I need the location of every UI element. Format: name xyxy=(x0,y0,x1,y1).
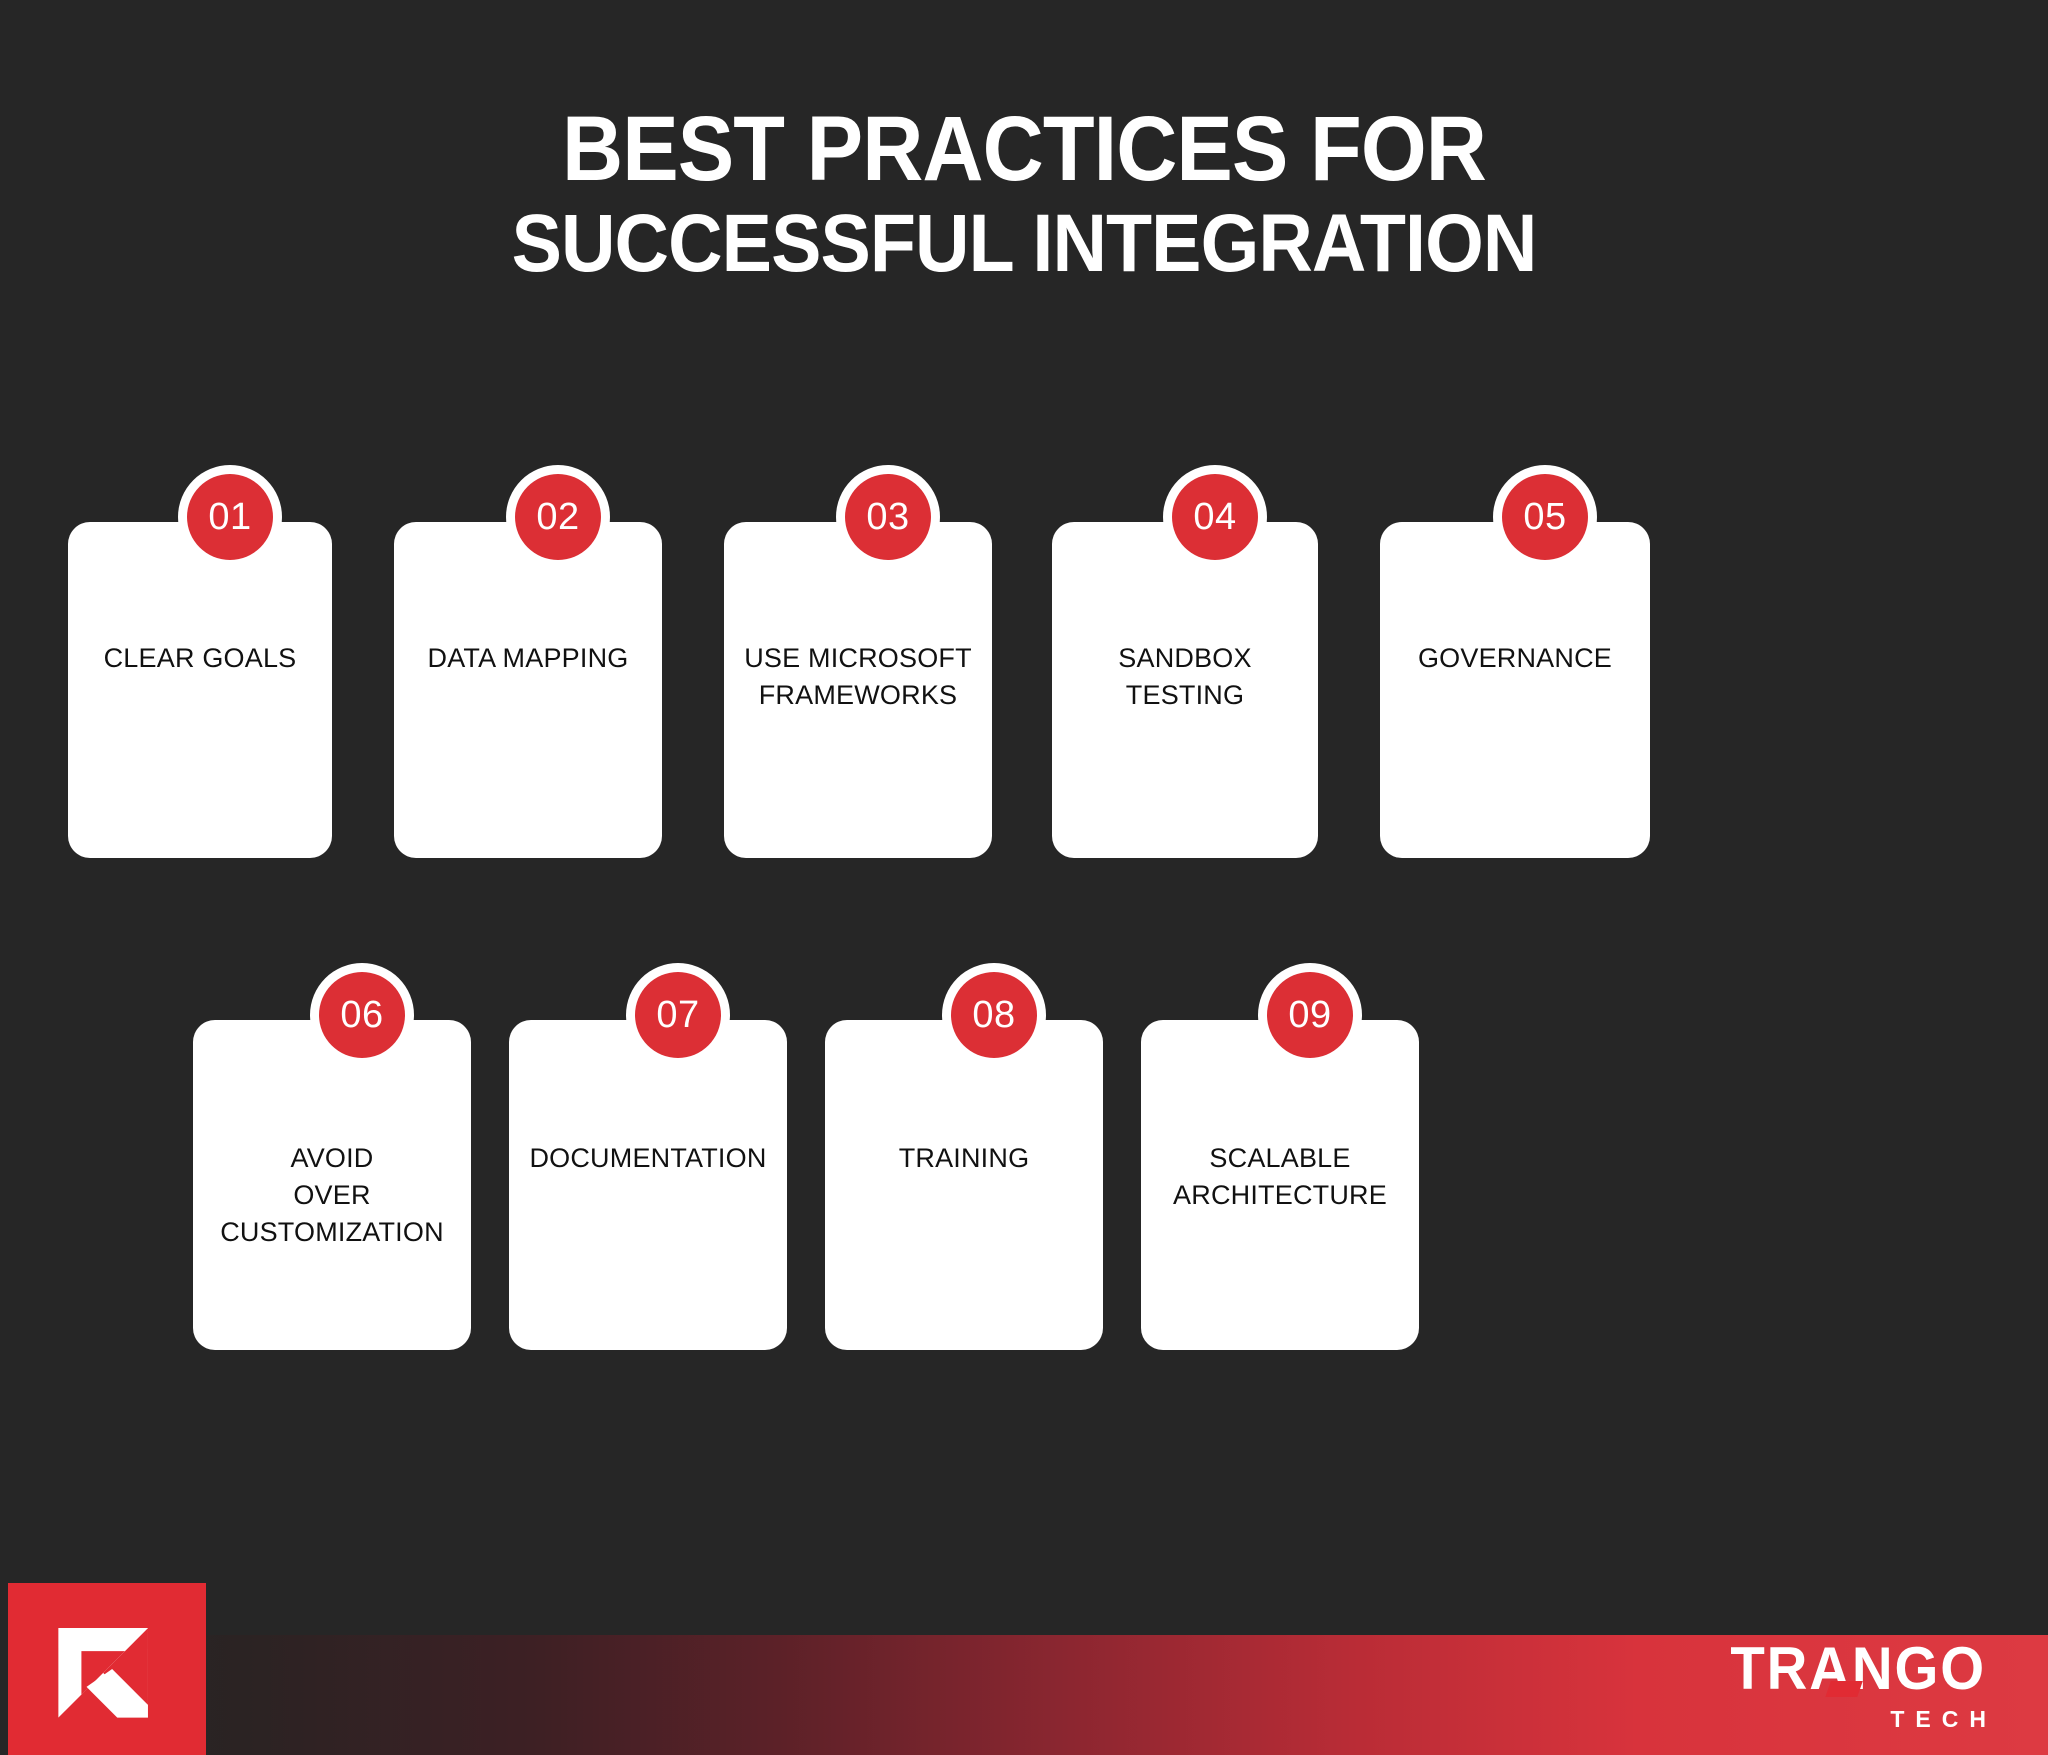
step-number: 09 xyxy=(1288,994,1331,1037)
step-badge-07: 07 xyxy=(626,963,730,1067)
practice-label: TRAINING xyxy=(885,1140,1044,1177)
step-badge-circle: 01 xyxy=(187,474,273,560)
step-badge-circle: 09 xyxy=(1267,972,1353,1058)
step-badge-circle: 02 xyxy=(515,474,601,560)
practice-card-02[interactable]: 02 DATA MAPPING xyxy=(394,522,662,858)
brand-name-text: TRANGO xyxy=(1730,1635,1986,1702)
practice-card-09[interactable]: 09 SCALABLE ARCHITECTURE xyxy=(1141,1020,1419,1350)
practice-label: SCALABLE ARCHITECTURE xyxy=(1159,1140,1401,1214)
step-badge-circle: 07 xyxy=(635,972,721,1058)
practice-label: GOVERNANCE xyxy=(1404,640,1626,677)
step-badge-01: 01 xyxy=(178,465,282,569)
practice-card-06[interactable]: 06 AVOID OVER CUSTOMIZATION xyxy=(193,1020,471,1350)
step-badge-05: 05 xyxy=(1493,465,1597,569)
practice-card-07[interactable]: 07 DOCUMENTATION xyxy=(509,1020,787,1350)
company-logo-mark xyxy=(8,1583,206,1755)
step-number: 03 xyxy=(866,496,909,539)
step-badge-08: 08 xyxy=(942,963,1046,1067)
brand-subtitle: TECH xyxy=(1714,1708,1997,1731)
practice-card-03[interactable]: 03 USE MICROSOFT FRAMEWORKS xyxy=(724,522,992,858)
practice-row-1: 01 CLEAR GOALS 02 DATA MAPPING 03 USE MI… xyxy=(68,522,1650,858)
step-badge-06: 06 xyxy=(310,963,414,1067)
practice-label: DOCUMENTATION xyxy=(515,1140,780,1177)
step-badge-circle: 05 xyxy=(1502,474,1588,560)
step-badge-circle: 04 xyxy=(1172,474,1258,560)
practice-card-05[interactable]: 05 GOVERNANCE xyxy=(1380,522,1650,858)
practice-label: CLEAR GOALS xyxy=(90,640,311,677)
step-badge-09: 09 xyxy=(1258,963,1362,1067)
practice-label: AVOID OVER CUSTOMIZATION xyxy=(206,1140,458,1251)
practice-card-grid: 01 CLEAR GOALS 02 DATA MAPPING 03 USE MI… xyxy=(0,0,2048,1755)
arrow-up-right-icon xyxy=(43,1605,171,1733)
practice-card-04[interactable]: 04 SANDBOX TESTING xyxy=(1052,522,1318,858)
practice-label: USE MICROSOFT FRAMEWORKS xyxy=(730,640,986,714)
step-badge-03: 03 xyxy=(836,465,940,569)
step-badge-circle: 06 xyxy=(319,972,405,1058)
company-wordmark: TRANGO TECH xyxy=(1714,1639,1986,1731)
practice-label: DATA MAPPING xyxy=(414,640,643,677)
practice-card-01[interactable]: 01 CLEAR GOALS xyxy=(68,522,332,858)
brand-name: TRANGO xyxy=(1730,1639,1986,1699)
practice-row-2: 06 AVOID OVER CUSTOMIZATION 07 DOCUMENTA… xyxy=(193,1020,1419,1350)
practice-label: SANDBOX TESTING xyxy=(1104,640,1265,714)
step-badge-circle: 08 xyxy=(951,972,1037,1058)
step-number: 08 xyxy=(972,994,1015,1037)
step-number: 02 xyxy=(536,496,579,539)
step-number: 04 xyxy=(1193,496,1236,539)
step-number: 01 xyxy=(208,496,251,539)
practice-card-08[interactable]: 08 TRAINING xyxy=(825,1020,1103,1350)
step-badge-04: 04 xyxy=(1163,465,1267,569)
step-number: 05 xyxy=(1523,496,1566,539)
step-badge-circle: 03 xyxy=(845,474,931,560)
step-number: 06 xyxy=(340,994,383,1037)
step-number: 07 xyxy=(656,994,699,1037)
step-badge-02: 02 xyxy=(506,465,610,569)
